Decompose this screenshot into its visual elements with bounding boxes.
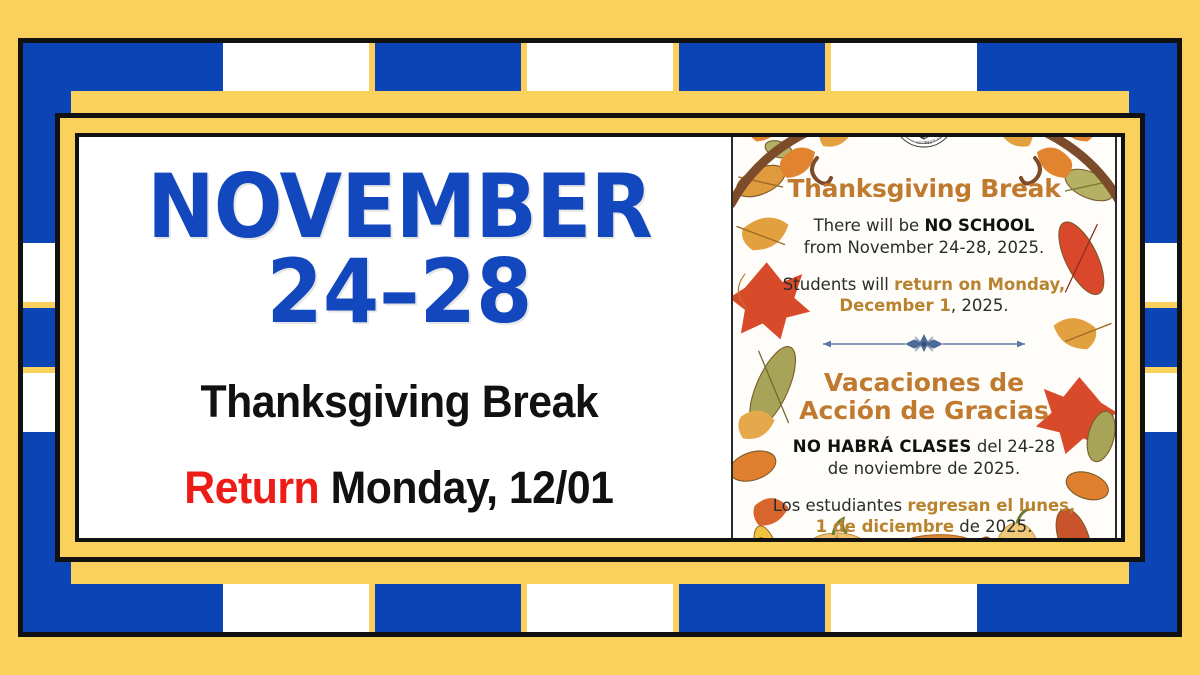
es-line4-b: de 2025. [954,517,1032,536]
flyer-english-title: Thanksgiving Break [733,174,1115,203]
bottom-tile-1 [375,584,521,632]
top-tile-4 [831,43,977,91]
top-tile-0 [223,43,369,91]
es-line3-a: Los estudiantes [773,496,908,515]
en-return-monday: return on Monday, [894,275,1065,294]
top-tile-1 [375,43,521,91]
headline-line-2: 24–28 [147,250,652,334]
headline: NOVEMBER 24–28 [147,165,652,334]
en-december: December 1 [839,296,950,315]
es-no-clases: NO HABRÁ CLASES [793,437,972,456]
top-tile-3 [679,43,825,91]
flyer-english-body: There will be NO SCHOOL from November 24… [733,215,1115,317]
bottom-tile-3 [679,584,825,632]
en-line2: from November 24-28, 2025. [733,237,1115,259]
logo-established: EST 2014 [916,141,931,145]
en-line3-a: Students will [783,275,894,294]
logo-monogram: NCPA [906,133,942,135]
ornamental-divider-icon [809,333,1039,355]
es-line2: de noviembre de 2025. [733,458,1115,480]
en-line4-b: , 2025. [951,296,1009,315]
bottom-tile-2 [527,584,673,632]
flyer: NAPA COLLEGE PREPARATORY ACADEMY NCPA ES… [731,133,1117,542]
school-logo: NAPA COLLEGE PREPARATORY ACADEMY NCPA ES… [892,133,956,148]
top-tile-2 [527,43,673,91]
return-line: Return Monday, 12/01 [184,462,613,514]
subtitle: Thanksgiving Break [200,376,598,428]
en-no-school: NO SCHOOL [924,216,1034,235]
return-word: Return [184,462,319,513]
es-title-line1: Vacaciones de [733,369,1115,397]
es-title-line2: Acción de Gracias [733,397,1115,425]
flyer-spanish-body: NO HABRÁ CLASES del 24-28 de noviembre d… [733,436,1115,538]
es-line1-b: del 24-28 [972,437,1056,456]
bottom-tile-0 [223,584,369,632]
poster: NOVEMBER 24–28 Thanksgiving Break Return… [0,0,1200,675]
bottom-tile-4 [831,584,977,632]
flyer-spanish-title: Vacaciones de Acción de Gracias [733,369,1115,425]
es-diciembre: 1 de diciembre [816,517,954,536]
en-line1-a: There will be [814,216,925,235]
es-regresan: regresan el lunes, [907,496,1075,515]
return-rest: Monday, 12/01 [319,462,613,513]
content-canvas: NOVEMBER 24–28 Thanksgiving Break Return… [75,133,1125,542]
announcement-block: NOVEMBER 24–28 Thanksgiving Break Return… [79,137,719,538]
